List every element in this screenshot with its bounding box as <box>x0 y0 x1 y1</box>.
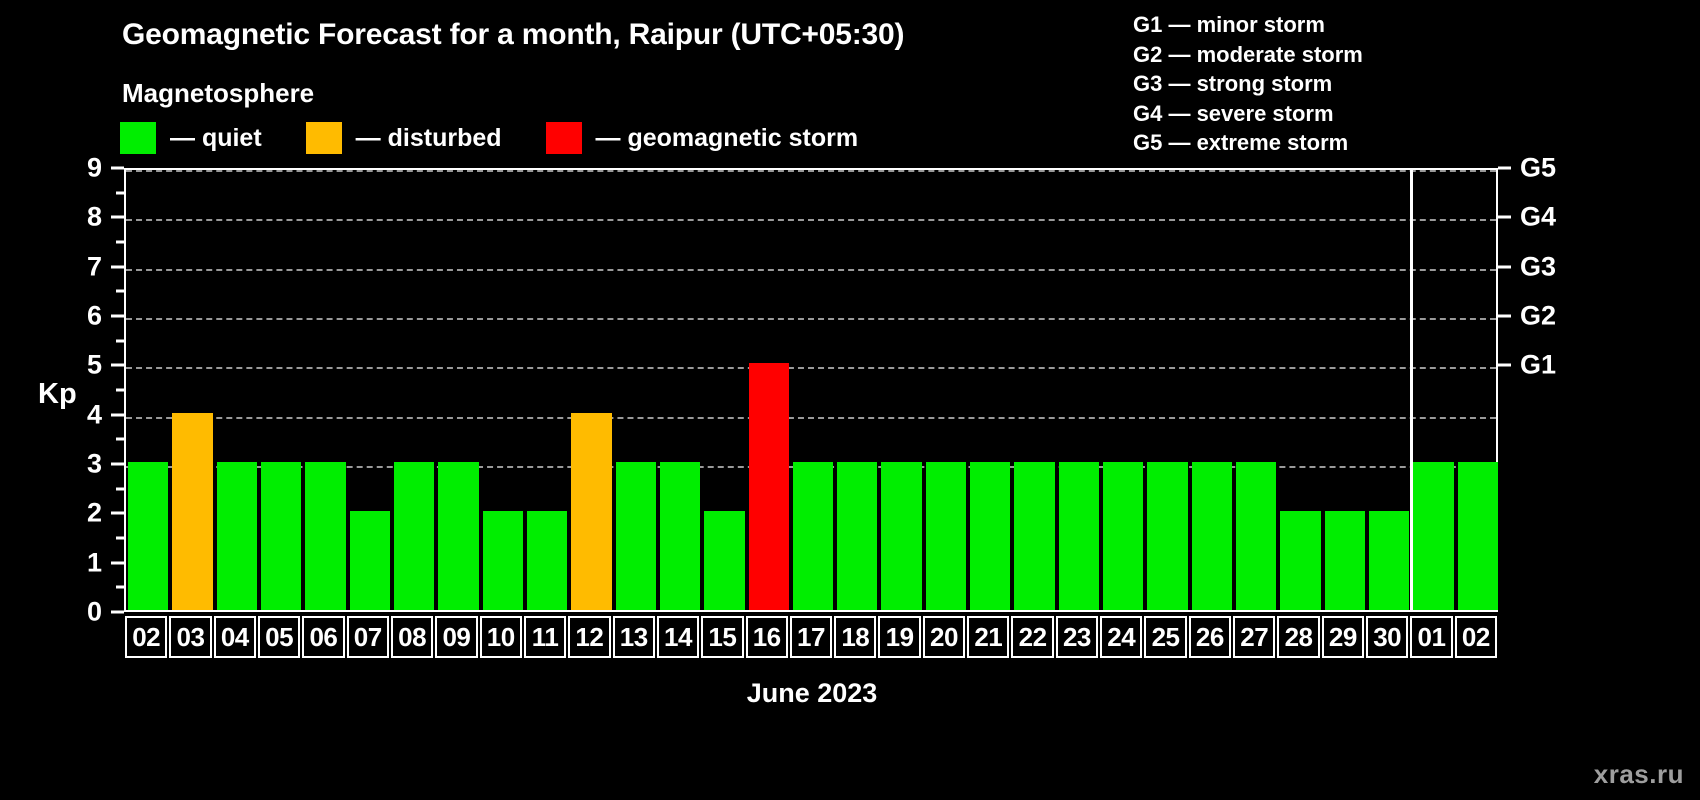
y-tick-label-8: 8 <box>87 202 102 233</box>
y-tick-minor <box>116 241 124 244</box>
watermark: xras.ru <box>1594 759 1684 790</box>
magnetosphere-legend: — quiet— disturbed— geomagnetic storm <box>120 122 902 154</box>
bar-day-10[interactable] <box>483 511 523 610</box>
y-tick-label-5: 5 <box>87 350 102 381</box>
date-label-16[interactable]: 16 <box>746 616 788 658</box>
bar-day-21[interactable] <box>970 462 1010 610</box>
y-tick-mark-9 <box>111 167 124 170</box>
g-axis-tick-g3 <box>1498 265 1511 268</box>
date-label-26[interactable]: 26 <box>1189 616 1231 658</box>
g-key-row-g3: G3 — strong storm <box>1133 69 1363 99</box>
g-axis-tick-g1 <box>1498 364 1511 367</box>
chart-page: Geomagnetic Forecast for a month, Raipur… <box>0 0 1700 800</box>
y-tick-minor <box>116 537 124 540</box>
bar-day-03[interactable] <box>172 413 212 610</box>
legend-label-disturbed: — disturbed <box>356 124 502 153</box>
date-label-13[interactable]: 13 <box>613 616 655 658</box>
y-tick-mark-3 <box>111 463 124 466</box>
g-axis-tick-g4 <box>1498 216 1511 219</box>
date-label-07[interactable]: 07 <box>347 616 389 658</box>
date-label-02[interactable]: 02 <box>1455 616 1497 658</box>
bar-day-23[interactable] <box>1059 462 1099 610</box>
bar-day-24[interactable] <box>1103 462 1143 610</box>
date-label-08[interactable]: 08 <box>391 616 433 658</box>
legend-item-disturbed: — disturbed <box>306 122 546 154</box>
date-label-21[interactable]: 21 <box>967 616 1009 658</box>
legend-label-geomagnetic-storm: — geomagnetic storm <box>596 124 859 153</box>
y-tick-mark-1 <box>111 561 124 564</box>
bar-day-15[interactable] <box>704 511 744 610</box>
y-tick-mark-8 <box>111 216 124 219</box>
g-axis-label-g4: G4 <box>1520 202 1556 233</box>
g-axis-label-g5: G5 <box>1520 153 1556 184</box>
y-tick-mark-6 <box>111 315 124 318</box>
y-tick-minor <box>116 438 124 441</box>
legend-heading: Magnetosphere <box>122 78 314 109</box>
date-label-12[interactable]: 12 <box>568 616 610 658</box>
bar-day-08[interactable] <box>394 462 434 610</box>
y-tick-mark-7 <box>111 265 124 268</box>
g-key-row-g2: G2 — moderate storm <box>1133 40 1363 70</box>
bar-day-19[interactable] <box>881 462 921 610</box>
date-label-09[interactable]: 09 <box>435 616 477 658</box>
y-tick-label-7: 7 <box>87 251 102 282</box>
y-axis-title: Kp <box>38 378 77 411</box>
date-label-29[interactable]: 29 <box>1322 616 1364 658</box>
date-label-30[interactable]: 30 <box>1366 616 1408 658</box>
y-tick-minor <box>116 191 124 194</box>
g-scale-key: G1 — minor stormG2 — moderate stormG3 — … <box>1133 10 1363 158</box>
bar-day-02[interactable] <box>128 462 168 610</box>
g-key-row-g1: G1 — minor storm <box>1133 10 1363 40</box>
x-axis-title-wrap: June 2023 <box>0 678 1700 709</box>
g-axis-tick-g2 <box>1498 315 1511 318</box>
y-tick-mark-0 <box>111 611 124 614</box>
date-label-04[interactable]: 04 <box>214 616 256 658</box>
date-label-05[interactable]: 05 <box>258 616 300 658</box>
g-axis-label-g2: G2 <box>1520 301 1556 332</box>
date-label-17[interactable]: 17 <box>790 616 832 658</box>
bar-day-18[interactable] <box>837 462 877 610</box>
date-label-25[interactable]: 25 <box>1144 616 1186 658</box>
date-label-19[interactable]: 19 <box>878 616 920 658</box>
bar-day-09[interactable] <box>438 462 478 610</box>
legend-swatch-quiet <box>120 122 156 154</box>
y-tick-minor <box>116 487 124 490</box>
bar-day-30[interactable] <box>1369 511 1409 610</box>
y-tick-minor <box>116 290 124 293</box>
g-axis-label-g3: G3 <box>1520 251 1556 282</box>
bar-day-12[interactable] <box>571 413 611 610</box>
bar-day-20[interactable] <box>926 462 966 610</box>
y-tick-mark-4 <box>111 413 124 416</box>
g-axis-tick-g5 <box>1498 167 1511 170</box>
date-label-11[interactable]: 11 <box>524 616 566 658</box>
g-key-row-g5: G5 — extreme storm <box>1133 128 1363 158</box>
g-axis-label-g1: G1 <box>1520 350 1556 381</box>
y-tick-mark-5 <box>111 364 124 367</box>
x-axis-dates: 0203040506070809101112131415161718192021… <box>124 616 1498 658</box>
bar-day-27[interactable] <box>1236 462 1276 610</box>
date-label-22[interactable]: 22 <box>1011 616 1053 658</box>
y-tick-label-6: 6 <box>87 301 102 332</box>
month-divider <box>1410 170 1413 610</box>
bar-day-17[interactable] <box>793 462 833 610</box>
g-key-row-g4: G4 — severe storm <box>1133 99 1363 129</box>
date-label-10[interactable]: 10 <box>480 616 522 658</box>
date-label-14[interactable]: 14 <box>657 616 699 658</box>
legend-item-quiet: — quiet <box>120 122 306 154</box>
date-label-02[interactable]: 02 <box>125 616 167 658</box>
date-label-06[interactable]: 06 <box>302 616 344 658</box>
bar-day-13[interactable] <box>616 462 656 610</box>
date-label-18[interactable]: 18 <box>834 616 876 658</box>
bar-day-26[interactable] <box>1192 462 1232 610</box>
g-scale-axis: G1G2G3G4G5 <box>1498 168 1698 612</box>
y-tick-label-0: 0 <box>87 597 102 628</box>
page-title: Geomagnetic Forecast for a month, Raipur… <box>122 18 904 52</box>
legend-item-geomagnetic-storm: — geomagnetic storm <box>546 122 903 154</box>
bar-day-11[interactable] <box>527 511 567 610</box>
bar-day-22[interactable] <box>1014 462 1054 610</box>
legend-swatch-geomagnetic-storm <box>546 122 582 154</box>
date-label-23[interactable]: 23 <box>1056 616 1098 658</box>
y-tick-minor <box>116 586 124 589</box>
legend-swatch-disturbed <box>306 122 342 154</box>
y-tick-minor <box>116 389 124 392</box>
date-label-15[interactable]: 15 <box>701 616 743 658</box>
bar-day-01[interactable] <box>1413 462 1453 610</box>
legend-label-quiet: — quiet <box>170 124 262 153</box>
date-label-27[interactable]: 27 <box>1233 616 1275 658</box>
bar-day-28[interactable] <box>1280 511 1320 610</box>
date-label-03[interactable]: 03 <box>169 616 211 658</box>
y-tick-mark-2 <box>111 512 124 515</box>
bar-day-25[interactable] <box>1147 462 1187 610</box>
plot-area <box>124 168 1498 612</box>
date-label-24[interactable]: 24 <box>1100 616 1142 658</box>
y-tick-label-4: 4 <box>87 399 102 430</box>
y-tick-label-3: 3 <box>87 449 102 480</box>
date-label-01[interactable]: 01 <box>1410 616 1452 658</box>
bar-day-05[interactable] <box>261 462 301 610</box>
bar-series <box>126 170 1496 610</box>
date-label-28[interactable]: 28 <box>1277 616 1319 658</box>
date-label-20[interactable]: 20 <box>923 616 965 658</box>
x-axis-title: June 2023 <box>747 678 878 709</box>
y-tick-label-9: 9 <box>87 153 102 184</box>
bar-day-29[interactable] <box>1325 511 1365 610</box>
bar-day-07[interactable] <box>350 511 390 610</box>
y-tick-label-2: 2 <box>87 498 102 529</box>
y-tick-label-1: 1 <box>87 547 102 578</box>
bar-day-04[interactable] <box>217 462 257 610</box>
y-tick-minor <box>116 339 124 342</box>
bar-day-16[interactable] <box>749 363 789 610</box>
bar-day-14[interactable] <box>660 462 700 610</box>
bar-day-02[interactable] <box>1458 462 1498 610</box>
bar-day-06[interactable] <box>305 462 345 610</box>
